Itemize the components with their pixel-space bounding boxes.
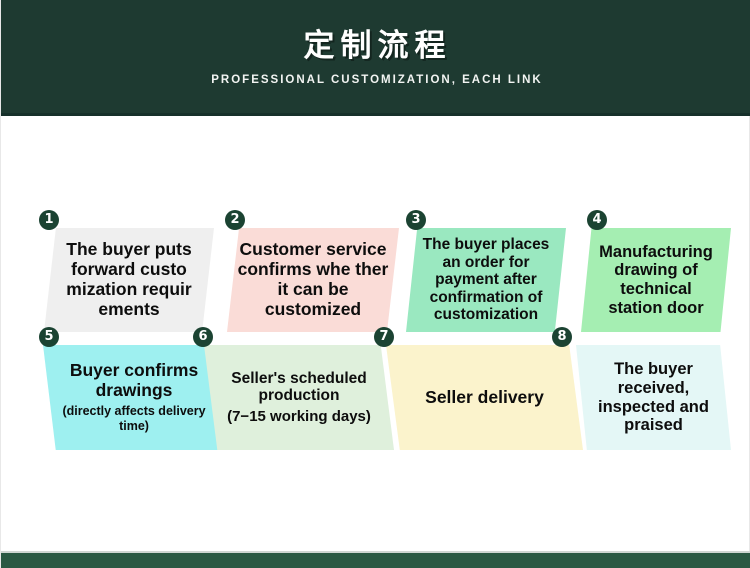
step-badge-7: 7 <box>374 327 394 347</box>
flow-step-2[interactable]: Customer service confirms whe ther it ca… <box>227 228 399 332</box>
step-badge-3: 3 <box>406 210 426 230</box>
page-title-chinese: 定制流程 <box>304 30 452 61</box>
step-badge-8: 8 <box>552 327 572 347</box>
step-label-8: The buyer received, inspected and praise… <box>586 360 721 435</box>
flow-step-5[interactable]: Buyer confirms drawings (directly affect… <box>43 345 225 450</box>
flow-step-6[interactable]: Seller's scheduled production (7−15 work… <box>204 345 394 450</box>
flow-step-8[interactable]: The buyer received, inspected and praise… <box>576 345 731 450</box>
flow-step-7[interactable]: Seller delivery <box>386 345 583 450</box>
step-text-2: Customer service confirms whe ther it ca… <box>227 228 399 332</box>
step-text-3: The buyer places an order for payment af… <box>406 228 566 332</box>
flow-step-4[interactable]: Manufacturing drawing of technical stati… <box>581 228 731 332</box>
flow-steps-area: 1 The buyer puts forward custo mization … <box>1 116 750 553</box>
step-label-5: Buyer confirms drawings <box>53 361 215 401</box>
step-badge-5: 5 <box>39 327 59 347</box>
step-badge-1: 1 <box>39 210 59 230</box>
step-badge-2: 2 <box>225 210 245 230</box>
flow-step-1[interactable]: The buyer puts forward custo mization re… <box>44 228 214 332</box>
step-label-1: The buyer puts forward custo mization re… <box>54 240 204 319</box>
step-text-8: The buyer received, inspected and praise… <box>576 345 731 450</box>
step-label-4: Manufacturing drawing of technical stati… <box>591 243 721 318</box>
step-label-3: The buyer places an order for payment af… <box>416 236 556 324</box>
step-text-1: The buyer puts forward custo mization re… <box>44 228 214 332</box>
step-text-5: Buyer confirms drawings (directly affect… <box>43 345 225 450</box>
customization-flow-page: 定制流程 PROFESSIONAL CUSTOMIZATION, EACH LI… <box>0 0 750 568</box>
step-sublabel-5: (directly affects delivery time) <box>53 404 215 434</box>
step-sublabel-6: (7−15 working days) <box>227 408 371 426</box>
header-content: 定制流程 PROFESSIONAL CUSTOMIZATION, EACH LI… <box>1 0 750 116</box>
step-badge-4: 4 <box>587 210 607 230</box>
step-label-6: Seller's scheduled production <box>214 370 384 405</box>
step-label-7: Seller delivery <box>425 388 544 408</box>
page-footer-band <box>1 551 750 568</box>
step-text-6: Seller's scheduled production (7−15 work… <box>204 345 394 450</box>
flow-step-3[interactable]: The buyer places an order for payment af… <box>406 228 566 332</box>
step-label-2: Customer service confirms whe ther it ca… <box>237 240 389 319</box>
page-subtitle-english: PROFESSIONAL CUSTOMIZATION, EACH LINK <box>211 75 542 87</box>
page-header-banner: 定制流程 PROFESSIONAL CUSTOMIZATION, EACH LI… <box>1 0 750 116</box>
step-text-4: Manufacturing drawing of technical stati… <box>581 228 731 332</box>
step-text-7: Seller delivery <box>386 345 583 450</box>
step-badge-6: 6 <box>193 327 213 347</box>
